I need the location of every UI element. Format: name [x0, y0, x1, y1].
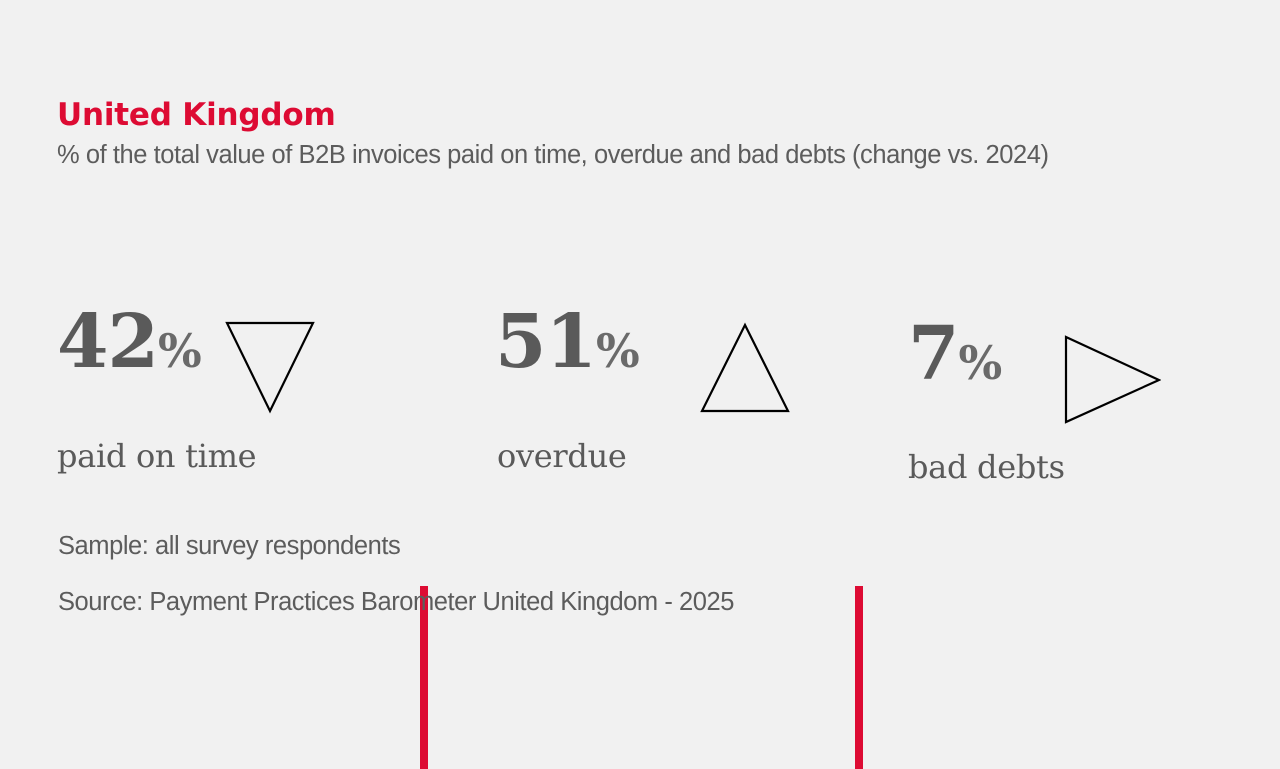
percent-symbol: % — [596, 324, 639, 378]
stat-value-row: 42% — [57, 308, 315, 414]
infographic-footer: Sample: all survey respondents Source: P… — [58, 534, 734, 615]
infographic-header: United Kingdom % of the total value of B… — [57, 98, 1217, 171]
stat-number: 42 — [57, 299, 158, 385]
source-note: Source: Payment Practices Barometer Unit… — [58, 590, 734, 616]
sample-note: Sample: all survey respondents — [58, 534, 734, 560]
percent-symbol: % — [158, 324, 201, 378]
subtitle-description: % of the total value of B2B invoices pai… — [57, 140, 1187, 171]
stat-value-bad-debts: 7% — [908, 320, 1001, 388]
stat-label-paid-on-time: paid on time — [57, 440, 256, 472]
stat-value-row: 51% — [495, 308, 791, 414]
stat-block-overdue: 51% overdue — [495, 308, 791, 508]
stat-block-paid-on-time: 42% paid on time — [57, 308, 315, 508]
stat-label-bad-debts: bad debts — [908, 451, 1065, 483]
triangle-up-icon — [699, 322, 791, 414]
stat-number: 51 — [495, 299, 596, 385]
stat-label-overdue: overdue — [497, 440, 627, 472]
section-divider-2 — [855, 586, 863, 769]
percent-symbol: % — [959, 336, 1002, 390]
triangle-right-icon — [1063, 335, 1161, 425]
stat-value-paid-on-time: 42% — [57, 308, 201, 376]
stat-value-overdue: 51% — [495, 308, 639, 376]
statistics-strip: 42% paid on time 51% overdue — [0, 290, 1280, 490]
page-title: United Kingdom — [57, 98, 1217, 132]
stat-block-bad-debts: 7% bad debts — [908, 320, 1161, 520]
triangle-down-icon — [225, 320, 315, 414]
stat-number: 7 — [908, 311, 959, 397]
stat-value-row: 7% — [908, 320, 1161, 425]
